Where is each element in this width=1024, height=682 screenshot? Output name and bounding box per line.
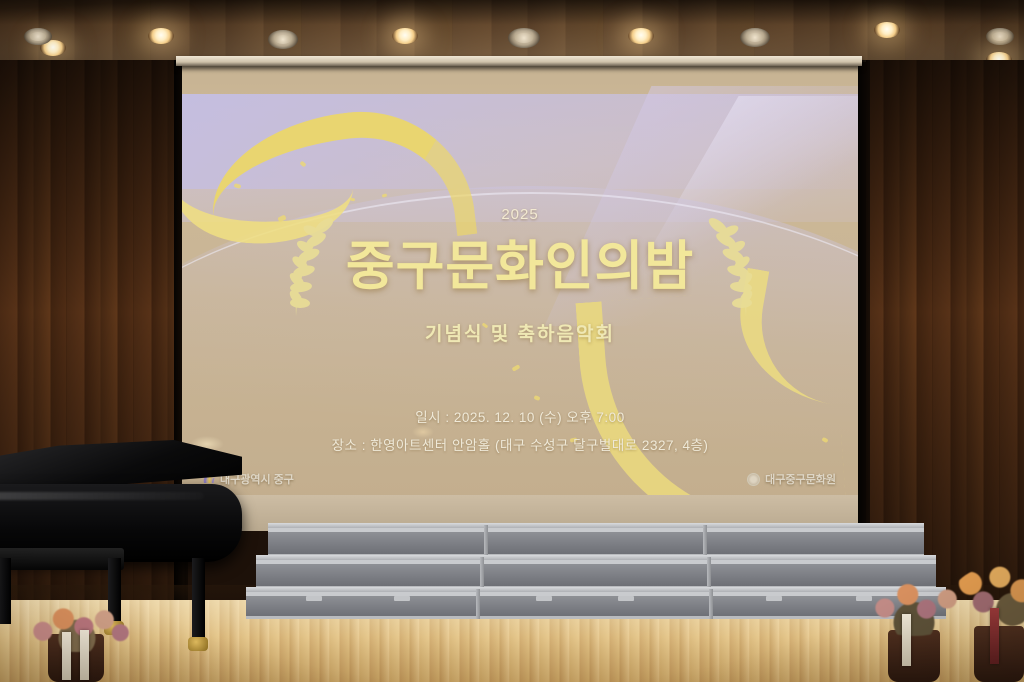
downlight-2-icon xyxy=(148,28,174,44)
riser-foot-2 xyxy=(394,596,410,601)
riser-foot-5 xyxy=(766,596,782,601)
slide-date-line: 일시 : 2025. 12. 10 (수) 오후 7:00 xyxy=(182,406,858,426)
auditorium-stage-photo: 2025 중구문화인의밤 기념식 및 축하음악회 일시 : 2025. 12. … xyxy=(0,0,1024,682)
riser-tier-top xyxy=(268,523,924,557)
screen-valance-bar xyxy=(176,56,862,66)
basket-right2-blooms xyxy=(952,566,1024,628)
slide-title: 중구문화인의밤 xyxy=(182,224,858,300)
riser-tier-bottom xyxy=(246,587,946,621)
vent-4-icon xyxy=(740,28,770,47)
basket-right1-vase xyxy=(888,630,940,682)
riser-panel-top-2 xyxy=(487,528,705,557)
riser-divider-top-1 xyxy=(484,525,488,557)
riser-panel-bot-2 xyxy=(479,592,711,619)
downlight-4-icon xyxy=(628,28,654,44)
riser-foot-1 xyxy=(306,596,322,601)
flower-basket-left xyxy=(18,600,136,682)
riser-tier-middle xyxy=(256,555,936,589)
basket-left-ribbon-2 xyxy=(80,630,89,680)
slide-logo-right: 대구중구문화원 xyxy=(747,471,836,487)
riser-divider-top-2 xyxy=(703,525,707,557)
downlight-5-icon xyxy=(874,22,900,38)
piano-keyboard-cover xyxy=(0,548,124,570)
vent-2-icon xyxy=(268,30,298,49)
riser-divider-bot-1 xyxy=(476,589,480,619)
riser-panel-mid-1 xyxy=(256,560,482,589)
basket-right1-blooms xyxy=(862,580,966,636)
vent-3-icon xyxy=(508,28,540,48)
piano-leg-right xyxy=(192,558,205,640)
downlight-3-icon xyxy=(392,28,418,44)
riser-foot-3 xyxy=(536,596,552,601)
slide-subtitle: 기념식 및 축하음악회 xyxy=(182,319,858,346)
slide-place-line: 장소 : 한영아트센터 안암홀 (대구 수성구 달구벌대로 2327, 4층) xyxy=(182,434,858,454)
riser-panel-mid-2 xyxy=(483,560,709,589)
flower-basket-right-2 xyxy=(952,560,1024,682)
vent-5-icon xyxy=(986,28,1014,45)
basket-right2-vase xyxy=(974,626,1024,682)
vent-1-icon xyxy=(24,28,52,45)
riser-foot-4 xyxy=(618,596,634,601)
choir-risers xyxy=(246,523,946,621)
riser-panel-bot-1 xyxy=(246,592,478,619)
munhwawon-flower-emblem-icon xyxy=(747,473,760,486)
projection-screen: 2025 중구문화인의밤 기념식 및 축하음악회 일시 : 2025. 12. … xyxy=(182,66,858,503)
piano-caster-right xyxy=(188,637,208,651)
slide-logo-right-label: 대구중구문화원 xyxy=(765,471,836,487)
riser-panel-top-1 xyxy=(268,528,486,557)
riser-divider-mid-2 xyxy=(707,557,711,589)
piano-gloss-highlight xyxy=(0,492,204,500)
piano-leg-left xyxy=(0,558,11,624)
riser-panel-top-3 xyxy=(706,528,924,557)
riser-divider-bot-2 xyxy=(709,589,713,619)
flower-basket-right-1 xyxy=(862,572,966,682)
basket-right1-ribbon xyxy=(902,614,911,666)
riser-divider-mid-1 xyxy=(480,557,484,589)
slide-year: 2025 xyxy=(182,206,858,223)
basket-right2-ribbon xyxy=(990,608,999,664)
basket-left-ribbon-1 xyxy=(62,632,71,680)
basket-left-blooms xyxy=(20,606,134,652)
